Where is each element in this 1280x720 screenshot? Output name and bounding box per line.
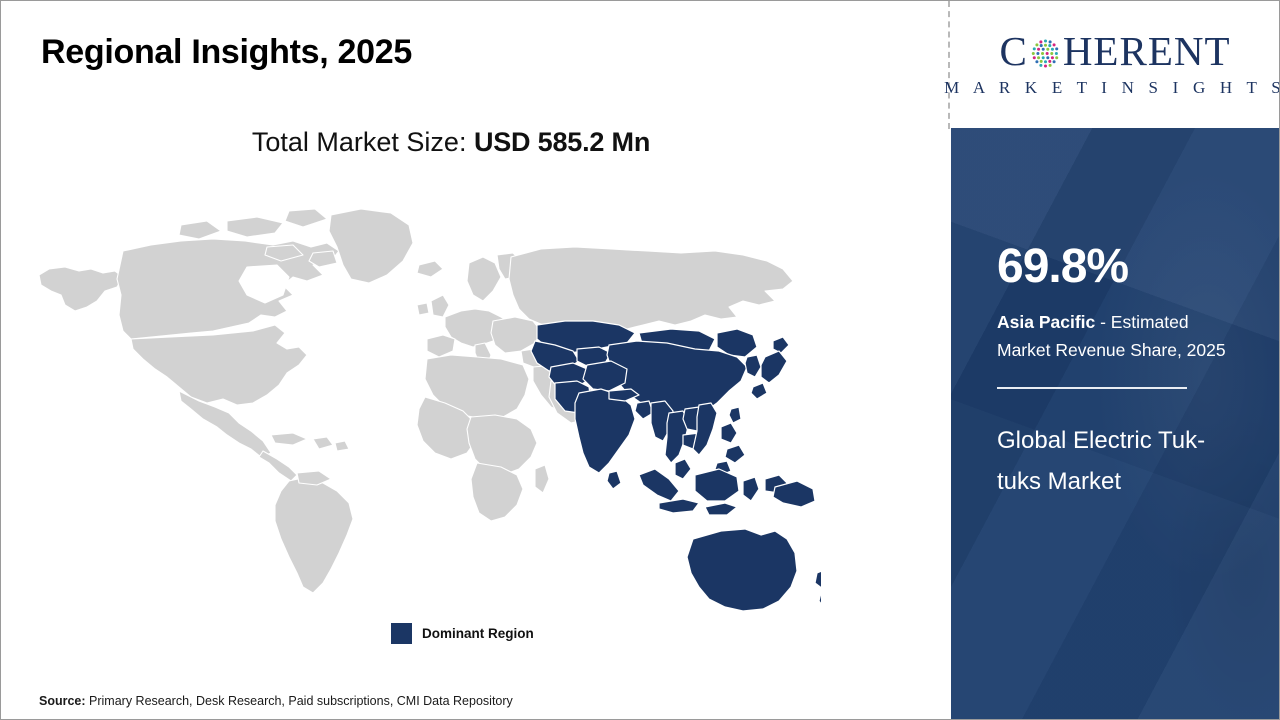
stat-region-name: Asia Pacific: [997, 312, 1095, 332]
world-map: [31, 191, 821, 611]
world-map-svg: [31, 191, 821, 611]
legend-swatch-dominant-region: [391, 623, 412, 644]
logo-word-after: HERENT: [1063, 31, 1231, 72]
total-market-size-value: USD 585.2 Mn: [474, 127, 650, 157]
logo-word-before: C: [999, 31, 1027, 72]
stat-description: Asia Pacific - Estimated Market Revenue …: [997, 308, 1233, 365]
logo-subtitle: M A R K E T I N S I G H T S: [944, 78, 1280, 98]
total-market-size-label: Total Market Size:: [252, 127, 474, 157]
legend-label-dominant-region: Dominant Region: [422, 626, 534, 641]
left-content-area: Regional Insights, 2025 Total Market Siz…: [1, 1, 949, 719]
page-title: Regional Insights, 2025: [41, 33, 412, 72]
stat-value: 69.8%: [997, 243, 1233, 291]
dotted-globe-icon: [1029, 37, 1062, 70]
map-legend: Dominant Region: [391, 623, 534, 644]
panel-divider-rule: [997, 387, 1187, 389]
source-note: Source: Primary Research, Desk Research,…: [39, 694, 513, 708]
total-market-size: Total Market Size: USD 585.2 Mn: [1, 127, 901, 158]
panel-content: 69.8% Asia Pacific - Estimated Market Re…: [951, 243, 1279, 503]
logo-wordmark: C: [999, 31, 1230, 72]
source-text: Primary Research, Desk Research, Paid su…: [89, 694, 513, 708]
map-highlighted-region-asia-pacific: [531, 321, 821, 611]
report-title: Global Electric Tuk-tuks Market: [997, 420, 1233, 503]
vertical-dashed-divider: [948, 1, 950, 129]
regional-insights-infographic: Regional Insights, 2025 Total Market Siz…: [0, 0, 1280, 720]
source-label: Source:: [39, 694, 89, 708]
highlight-panel: 69.8% Asia Pacific - Estimated Market Re…: [951, 128, 1279, 719]
brand-logo: C: [951, 1, 1279, 128]
